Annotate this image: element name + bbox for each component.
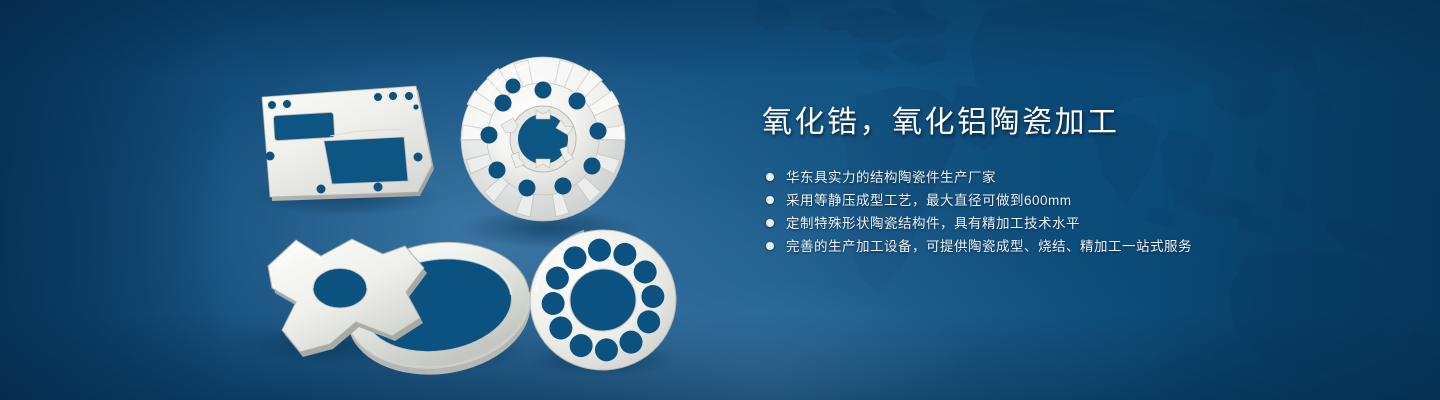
banner-headline: 氧化锆，氧化铝陶瓷加工 <box>762 104 1382 142</box>
list-item: 定制特殊形状陶瓷结构件，具有精加工技术水平 <box>766 216 1382 231</box>
list-item: 完善的生产加工设备，可提供陶瓷成型、烧结、精加工一站式服务 <box>766 239 1382 254</box>
list-item-label: 采用等静压成型工艺，最大直径可做到600mm <box>786 193 1072 208</box>
list-item-label: 华东具实力的结构陶瓷件生产厂家 <box>786 170 996 185</box>
list-item-label: 定制特殊形状陶瓷结构件，具有精加工技术水平 <box>786 216 1080 231</box>
bullet-dot-icon <box>766 219 774 227</box>
banner-feature-list: 华东具实力的结构陶瓷件生产厂家 采用等静压成型工艺，最大直径可做到600mm 定… <box>766 170 1382 254</box>
banner-copy: 氧化锆，氧化铝陶瓷加工 华东具实力的结构陶瓷件生产厂家 采用等静压成型工艺，最大… <box>762 104 1382 254</box>
bullet-dot-icon <box>766 242 774 250</box>
bullet-dot-icon <box>766 196 774 204</box>
bullet-dot-icon <box>766 173 774 181</box>
list-item: 华东具实力的结构陶瓷件生产厂家 <box>766 170 1382 185</box>
list-item-label: 完善的生产加工设备，可提供陶瓷成型、烧结、精加工一站式服务 <box>786 239 1192 254</box>
hero-banner: 氧化锆，氧化铝陶瓷加工 华东具实力的结构陶瓷件生产厂家 采用等静压成型工艺，最大… <box>0 0 1440 400</box>
list-item: 采用等静压成型工艺，最大直径可做到600mm <box>766 193 1382 208</box>
